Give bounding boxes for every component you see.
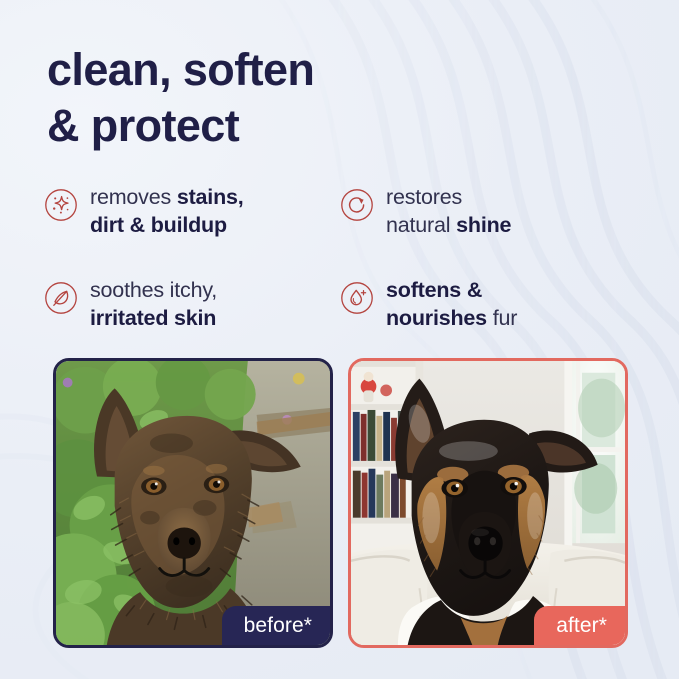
feature-text-bold-2: dirt & buildup xyxy=(90,213,227,237)
restore-arrow-icon xyxy=(340,188,374,222)
feature-text: soothes itchy, irritated skin xyxy=(90,275,217,333)
after-badge: after* xyxy=(534,606,626,646)
feature-text-light: fur xyxy=(493,306,518,330)
feature-text-bold: stains, xyxy=(177,185,244,209)
before-after-comparison: before* xyxy=(53,358,628,648)
feature-removes-stains: removes stains, dirt & buildup xyxy=(44,182,340,275)
feature-softens-fur: softens & nourishes fur xyxy=(340,275,640,368)
feature-restores-shine: restores natural shine xyxy=(340,182,640,275)
sparkle-icon xyxy=(44,188,78,222)
feature-list: removes stains, dirt & buildup restores … xyxy=(44,182,644,368)
feature-text-bold: irritated skin xyxy=(90,306,216,330)
before-badge: before* xyxy=(222,606,331,646)
feature-text: softens & nourishes fur xyxy=(386,275,517,333)
before-photo: before* xyxy=(53,358,333,648)
feature-text: removes stains, dirt & buildup xyxy=(90,182,244,240)
page-title: clean, soften & protect xyxy=(47,42,467,154)
feature-text-bold-2: nourishes xyxy=(386,306,493,330)
feature-text: restores natural shine xyxy=(386,182,511,240)
after-photo: after* xyxy=(348,358,628,648)
feature-text-light: removes xyxy=(90,185,177,209)
feature-text-bold: shine xyxy=(456,213,511,237)
feature-soothes-skin: soothes itchy, irritated skin xyxy=(44,275,340,368)
feature-text-light: soothes itchy, xyxy=(90,278,217,302)
feature-text-light-2: natural xyxy=(386,213,456,237)
droplet-icon xyxy=(340,281,374,315)
feature-text-bold: softens & xyxy=(386,278,482,302)
feature-text-light: restores xyxy=(386,185,462,209)
leaf-icon xyxy=(44,281,78,315)
